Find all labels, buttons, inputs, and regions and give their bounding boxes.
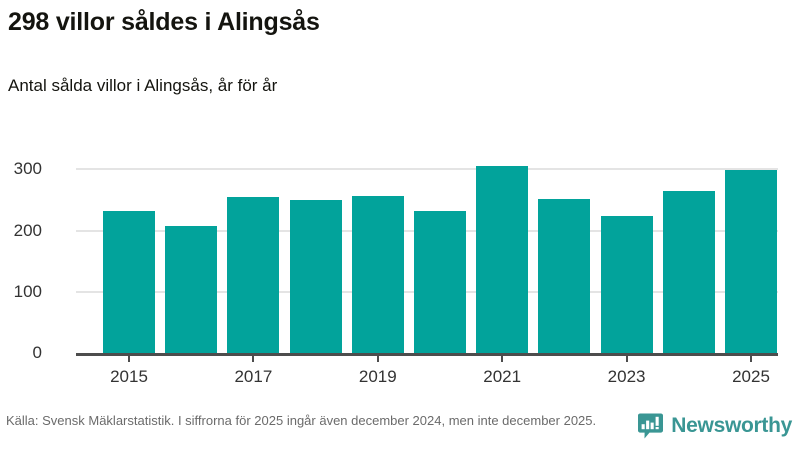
chart-page: 298 villor såldes i Alingsås Antal sålda… (0, 0, 800, 450)
bar-2015[interactable] (103, 211, 155, 353)
bar-2017[interactable] (227, 197, 279, 353)
x-axis-tick-2015 (128, 356, 130, 362)
source-note: Källa: Svensk Mäklarstatistik. I siffror… (6, 412, 636, 429)
page-title: 298 villor såldes i Alingsås (8, 8, 320, 37)
x-axis-label-2015: 2015 (110, 367, 148, 387)
bar-2020[interactable] (414, 211, 466, 353)
y-axis-label-200: 200 (0, 221, 42, 241)
bar-2023[interactable] (601, 216, 653, 353)
x-axis-tick-2019 (377, 356, 379, 362)
x-axis-tick-2017 (252, 356, 254, 362)
bar-2021[interactable] (476, 166, 528, 353)
page-subtitle: Antal sålda villor i Alingsås, år för år (8, 76, 277, 96)
plot-area: 0100200300201520172019202120232025 (76, 150, 778, 356)
logo-wordmark: Newsworthy (671, 414, 792, 438)
y-axis-label-100: 100 (0, 282, 42, 302)
bar-chart: 0100200300201520172019202120232025 (0, 130, 800, 370)
bar-chart-speech-bubble-icon (637, 413, 664, 440)
x-axis-label-2019: 2019 (359, 367, 397, 387)
x-axis-tick-2025 (750, 356, 752, 362)
x-axis-tick-2021 (501, 356, 503, 362)
gridline-300 (76, 168, 778, 170)
x-axis-tick-2023 (626, 356, 628, 362)
x-axis-label-2021: 2021 (483, 367, 521, 387)
bar-2025[interactable] (725, 170, 777, 353)
bar-2018[interactable] (290, 200, 342, 353)
bar-2016[interactable] (165, 226, 217, 353)
bar-2019[interactable] (352, 196, 404, 353)
bar-2024[interactable] (663, 191, 715, 353)
x-axis-label-2025: 2025 (732, 367, 770, 387)
y-axis-label-300: 300 (0, 159, 42, 179)
bar-2022[interactable] (538, 199, 590, 353)
x-axis-label-2017: 2017 (234, 367, 272, 387)
x-axis-label-2023: 2023 (608, 367, 646, 387)
y-axis-label-0: 0 (0, 343, 42, 363)
newsworthy-logo[interactable]: Newsworthy (637, 411, 792, 441)
x-axis-line (76, 353, 778, 356)
